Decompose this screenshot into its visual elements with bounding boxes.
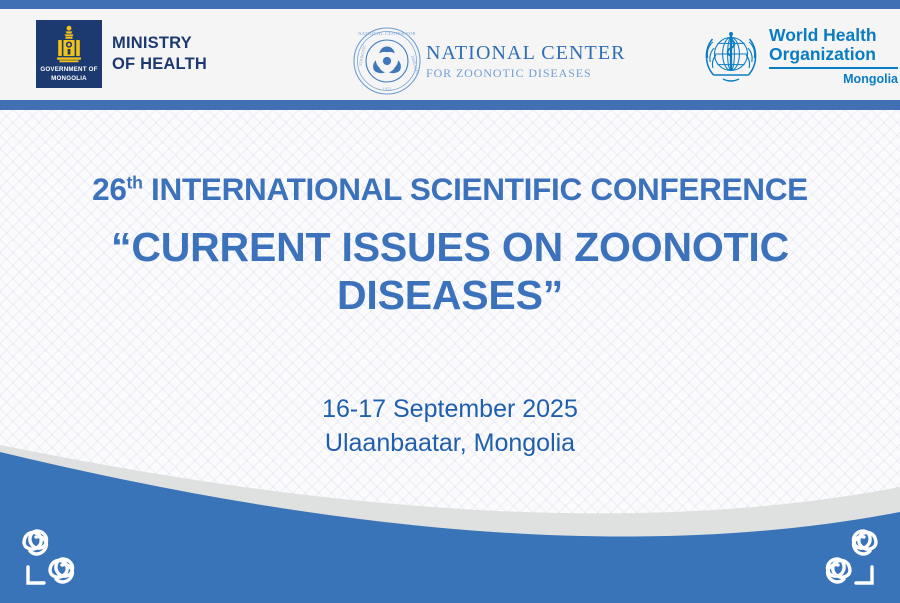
zoonotic-center-seal-icon: NATIONAL CENTER FOR 1951 ZOONOTIC DISEAS… <box>352 26 422 96</box>
national-center-subtitle: FOR ZOONOTIC DISEASES <box>426 67 626 79</box>
national-center-title: NATIONAL CENTER <box>426 43 626 63</box>
who-name-line-1: World Health <box>769 26 898 45</box>
ministry-of-health-name: MINISTRY OF HEALTH <box>112 33 207 75</box>
conference-number: 26 <box>92 171 126 207</box>
svg-text:1951: 1951 <box>382 87 391 92</box>
conference-title-slide: GOVERNMENT OF MONGOLIA MINISTRY OF HEALT… <box>0 0 900 603</box>
theme-line-2: DISEASES” <box>60 271 840 319</box>
conference-theme-title: “CURRENT ISSUES ON ZOONOTIC DISEASES” <box>0 223 900 320</box>
ministry-name-line-1: MINISTRY <box>112 33 207 54</box>
header-divider-bar <box>0 100 900 110</box>
logo-header-band: GOVERNMENT OF MONGOLIA MINISTRY OF HEALT… <box>0 9 900 100</box>
who-emblem-icon <box>700 27 762 89</box>
crest-government-line: GOVERNMENT OF <box>36 67 102 73</box>
government-of-mongolia-crest: GOVERNMENT OF MONGOLIA <box>36 20 102 88</box>
national-center-zoonotic-diseases-logo: NATIONAL CENTER FOR 1951 ZOONOTIC DISEAS… <box>352 26 626 96</box>
top-accent-bar <box>0 0 900 9</box>
svg-text:NATIONAL CENTER FOR: NATIONAL CENTER FOR <box>358 31 416 36</box>
ornament-right-knot-icon <box>802 521 886 595</box>
soyombo-emblem-icon <box>52 25 86 65</box>
conference-dates: 16-17 September 2025 <box>0 393 900 426</box>
conference-label: INTERNATIONAL SCIENTIFIC CONFERENCE <box>151 171 808 207</box>
who-name-line-2: Organization <box>769 45 898 64</box>
svg-text:DISEASES: DISEASES <box>410 55 420 76</box>
world-health-organization-logo: World Health Organization Mongolia <box>700 25 898 89</box>
ornament-left-knot-icon <box>14 521 98 595</box>
who-country-label: Mongolia <box>769 72 898 86</box>
conference-heading: 26th INTERNATIONAL SCIENTIFIC CONFERENCE <box>0 172 900 207</box>
who-underline-rule <box>769 67 898 69</box>
ministry-name-line-2: OF HEALTH <box>112 54 207 75</box>
theme-line-1: “CURRENT ISSUES ON ZOONOTIC <box>60 223 840 271</box>
slide-text-block: 26th INTERNATIONAL SCIENTIFIC CONFERENCE… <box>0 110 900 460</box>
crest-country-line: MONGOLIA <box>36 76 102 82</box>
ministry-of-health-logo: GOVERNMENT OF MONGOLIA MINISTRY OF HEALT… <box>36 20 207 88</box>
conference-location: Ulaanbaatar, Mongolia <box>0 427 900 460</box>
conference-ordinal-suffix: th <box>127 173 143 193</box>
